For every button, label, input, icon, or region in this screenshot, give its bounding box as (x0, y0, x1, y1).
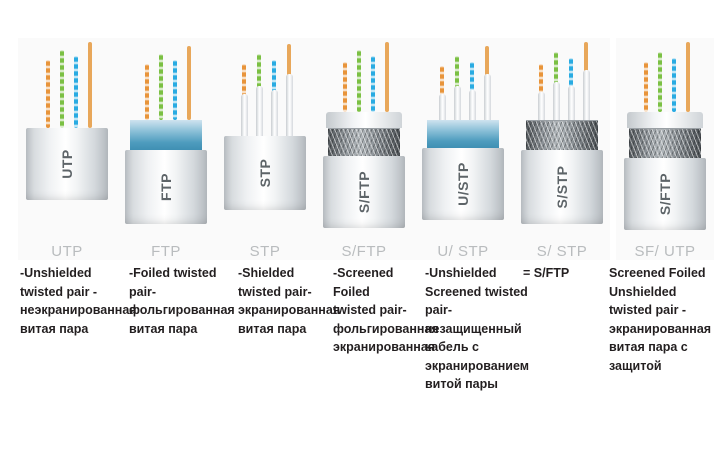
wire-orange-solid (584, 42, 588, 72)
cable-jacket: FTP (125, 150, 207, 224)
wire-green-twisted (357, 50, 361, 112)
wire-blue-twisted (371, 56, 375, 112)
pair-shield-sleeve-1 (241, 94, 248, 136)
braid-shield-band (629, 128, 701, 160)
pair-shield-sleeve-2 (553, 82, 560, 120)
inner-jacket-collar (627, 112, 703, 128)
wire-bundle (216, 38, 314, 128)
cable-jacket: S/FTP (624, 158, 706, 230)
wire-green-twisted (60, 50, 64, 128)
braid-shield-band (526, 120, 598, 152)
wire-orange-solid (485, 46, 489, 76)
column-caption-ftp: FTP (117, 243, 215, 260)
pair-shield-sleeve-3 (271, 90, 278, 136)
wire-green-twisted (455, 56, 459, 88)
column-description-s-stp: = S/FTP (513, 264, 609, 283)
column-caption-utp: UTP (18, 243, 116, 260)
column-description-ftp: -Foiled twisted pair-фольгированная вита… (129, 264, 233, 338)
wire-blue-twisted (672, 58, 676, 112)
jacket-label: S/STP (554, 166, 570, 209)
wire-blue-twisted (569, 58, 573, 88)
wire-green-twisted (159, 54, 163, 120)
column-description-u-stp: -Unshielded Screened twisted pair-незащи… (425, 264, 529, 394)
foil-shield-band (130, 120, 202, 150)
column-caption-stp: STP (216, 243, 314, 260)
inner-jacket-collar (326, 112, 402, 128)
cable-illustration-s-stp: S/STP (513, 38, 611, 238)
column-caption-sf-utp: SF/ UTP (616, 243, 714, 260)
wire-bundle (513, 38, 611, 128)
cable-jacket: S/STP (521, 150, 603, 224)
wire-bundle (18, 38, 116, 128)
wire-orange-twisted (46, 60, 50, 128)
cable-illustration-sf-utp: S/FTP (616, 38, 714, 238)
wire-orange-solid (287, 44, 291, 76)
cable-jacket: S/FTP (323, 156, 405, 228)
pair-shield-sleeve-3 (568, 86, 575, 120)
pair-shield-sleeve-1 (538, 92, 545, 120)
wire-orange-solid (686, 42, 690, 112)
wire-orange-solid (88, 42, 92, 128)
wire-orange-twisted (145, 64, 149, 120)
wire-bundle (117, 38, 215, 128)
cable-illustration-u-stp: U/STP (414, 38, 512, 238)
foil-shield-band (427, 120, 499, 148)
column-description-stp: -Shielded twisted pair-экранированная ви… (238, 264, 338, 338)
wire-green-twisted (257, 54, 261, 88)
cable-illustration-s-ftp: S/FTP (315, 38, 413, 238)
column-description-sf-utp: Screened Foiled Unshielded twisted pair … (609, 264, 720, 375)
wire-orange-twisted (644, 62, 648, 112)
cable-illustration-utp: UTP (18, 38, 116, 238)
column-caption-u-stp: U/ STP (414, 243, 512, 260)
pair-shield-sleeve-4 (286, 74, 293, 136)
jacket-label: STP (257, 159, 273, 188)
jacket-label: UTP (59, 149, 75, 179)
braid-shield-band (328, 128, 400, 158)
cable-types-diagram: UTP UTP -Unshielded twisted pair - неэкр… (0, 0, 720, 450)
cable-jacket: STP (224, 136, 306, 210)
column-description-s-ftp: -Screened Foiled twisted pair-фольгирова… (333, 264, 415, 357)
jacket-label: FTP (158, 173, 174, 201)
jacket-label: S/FTP (356, 171, 372, 213)
cable-jacket: UTP (26, 128, 108, 200)
wire-orange-twisted (343, 62, 347, 112)
wire-orange-solid (385, 42, 389, 112)
jacket-label: S/FTP (657, 173, 673, 215)
wire-blue-twisted (470, 62, 474, 92)
column-caption-s-ftp: S/FTP (315, 243, 413, 260)
wire-orange-solid (187, 46, 191, 120)
wire-orange-twisted (440, 66, 444, 96)
wire-green-twisted (658, 52, 662, 112)
pair-shield-sleeve-4 (583, 70, 590, 120)
column-caption-s-stp: S/ STP (513, 243, 611, 260)
wire-green-twisted (554, 52, 558, 84)
cable-illustration-ftp: FTP (117, 38, 215, 238)
jacket-label: U/STP (455, 162, 471, 206)
cable-illustration-stp: STP (216, 38, 314, 238)
wire-blue-twisted (74, 56, 78, 128)
column-description-utp: -Unshielded twisted pair - неэкранирован… (20, 264, 130, 338)
cable-jacket: U/STP (422, 148, 504, 220)
wire-blue-twisted (173, 60, 177, 120)
wire-bundle (414, 38, 512, 128)
wire-blue-twisted (272, 60, 276, 92)
pair-shield-sleeve-2 (256, 86, 263, 136)
wire-orange-twisted (539, 64, 543, 94)
wire-orange-twisted (242, 64, 246, 96)
